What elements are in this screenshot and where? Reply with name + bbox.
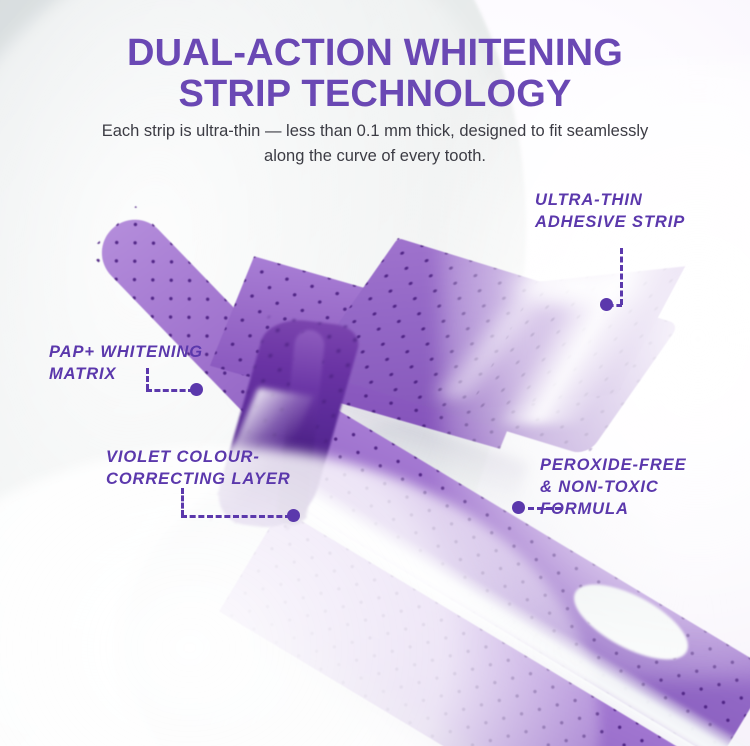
leader-line-horizontal xyxy=(146,389,194,392)
leader-line-vertical xyxy=(146,368,149,390)
page-title-line-1: DUAL-ACTION WHITENING xyxy=(127,32,623,74)
callout-label-peroxide-free-non-toxic-formula: PEROXIDE-FREE & NON-TOXIC FORMULA xyxy=(540,455,686,520)
callout-label-violet-colour-correcting-layer: VIOLET COLOUR- CORRECTING LAYER xyxy=(106,447,291,491)
leader-line-horizontal xyxy=(181,515,291,518)
leader-line-horizontal xyxy=(528,507,561,510)
page-subtitle: Each strip is ultra-thin — less than 0.1… xyxy=(95,119,655,169)
leader-dot-marker xyxy=(600,298,613,311)
infographic-canvas: DUAL-ACTION WHITENING STRIP TECHNOLOGY E… xyxy=(0,0,750,746)
leader-line-vertical xyxy=(620,248,623,305)
callout-label-pap-whitening-matrix: PAP+ WHITENING MATRIX xyxy=(49,342,203,386)
page-title: DUAL-ACTION WHITENING STRIP TECHNOLOGY xyxy=(0,33,750,115)
callout-label-ultra-thin-adhesive-strip: ULTRA-THIN ADHESIVE STRIP xyxy=(535,190,685,234)
leader-dot-marker xyxy=(190,383,203,396)
leader-dot-marker xyxy=(287,509,300,522)
leader-line-vertical xyxy=(181,488,184,516)
page-title-line-2: STRIP TECHNOLOGY xyxy=(0,74,750,115)
leader-dot-marker xyxy=(512,501,525,514)
